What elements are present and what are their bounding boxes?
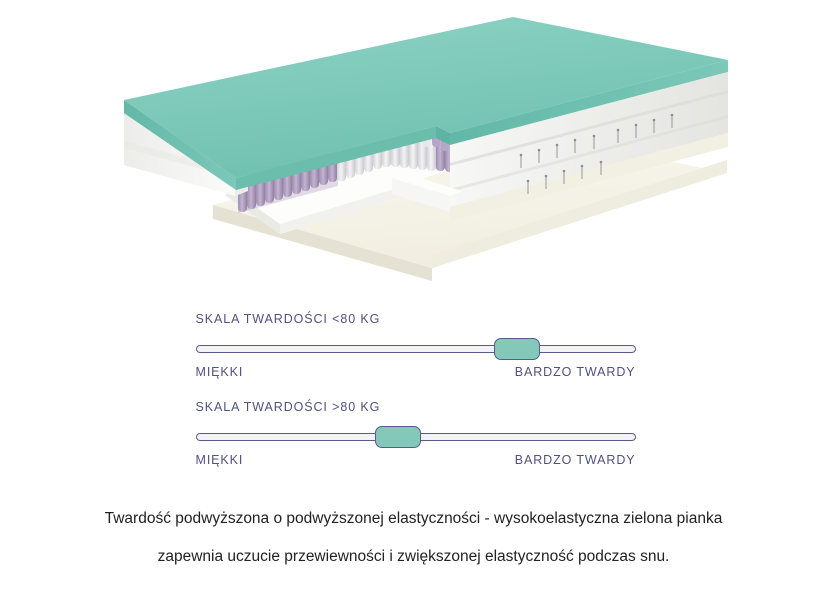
- hardness-scales-section: SKALA TWARDOŚCI <80 KG MIĘKKI BARDZO TWA…: [0, 305, 827, 481]
- scale-title-under-80: SKALA TWARDOŚCI <80 KG: [196, 312, 381, 326]
- product-description: Twardość podwyższona o podwyższonej elas…: [0, 500, 827, 576]
- scale-title-over-80: SKALA TWARDOŚCI >80 KG: [196, 400, 381, 414]
- scale-handle[interactable]: [375, 426, 421, 448]
- scale-label-very-hard: BARDZO TWARDY: [515, 365, 636, 379]
- hardness-scale-over-80: SKALA TWARDOŚCI >80 KG MIĘKKI BARDZO TWA…: [184, 393, 644, 481]
- scale-handle[interactable]: [494, 338, 540, 360]
- description-line-2: zapewnia uczucie przewiewności i zwiększ…: [0, 538, 827, 576]
- scale-slider-over-80[interactable]: [196, 429, 636, 445]
- scale-endpoint-labels: MIĘKKI BARDZO TWARDY: [196, 365, 636, 383]
- scale-label-soft: MIĘKKI: [196, 453, 244, 467]
- scale-slider-under-80[interactable]: [196, 341, 636, 357]
- product-illustration: [0, 0, 827, 300]
- scale-label-very-hard: BARDZO TWARDY: [515, 453, 636, 467]
- scale-track[interactable]: [196, 345, 636, 353]
- mattress-cutaway-image: [0, 0, 827, 300]
- hardness-scale-under-80: SKALA TWARDOŚCI <80 KG MIĘKKI BARDZO TWA…: [184, 305, 644, 393]
- scale-label-soft: MIĘKKI: [196, 365, 244, 379]
- description-line-1: Twardość podwyższona o podwyższonej elas…: [0, 500, 827, 538]
- scale-endpoint-labels: MIĘKKI BARDZO TWARDY: [196, 453, 636, 471]
